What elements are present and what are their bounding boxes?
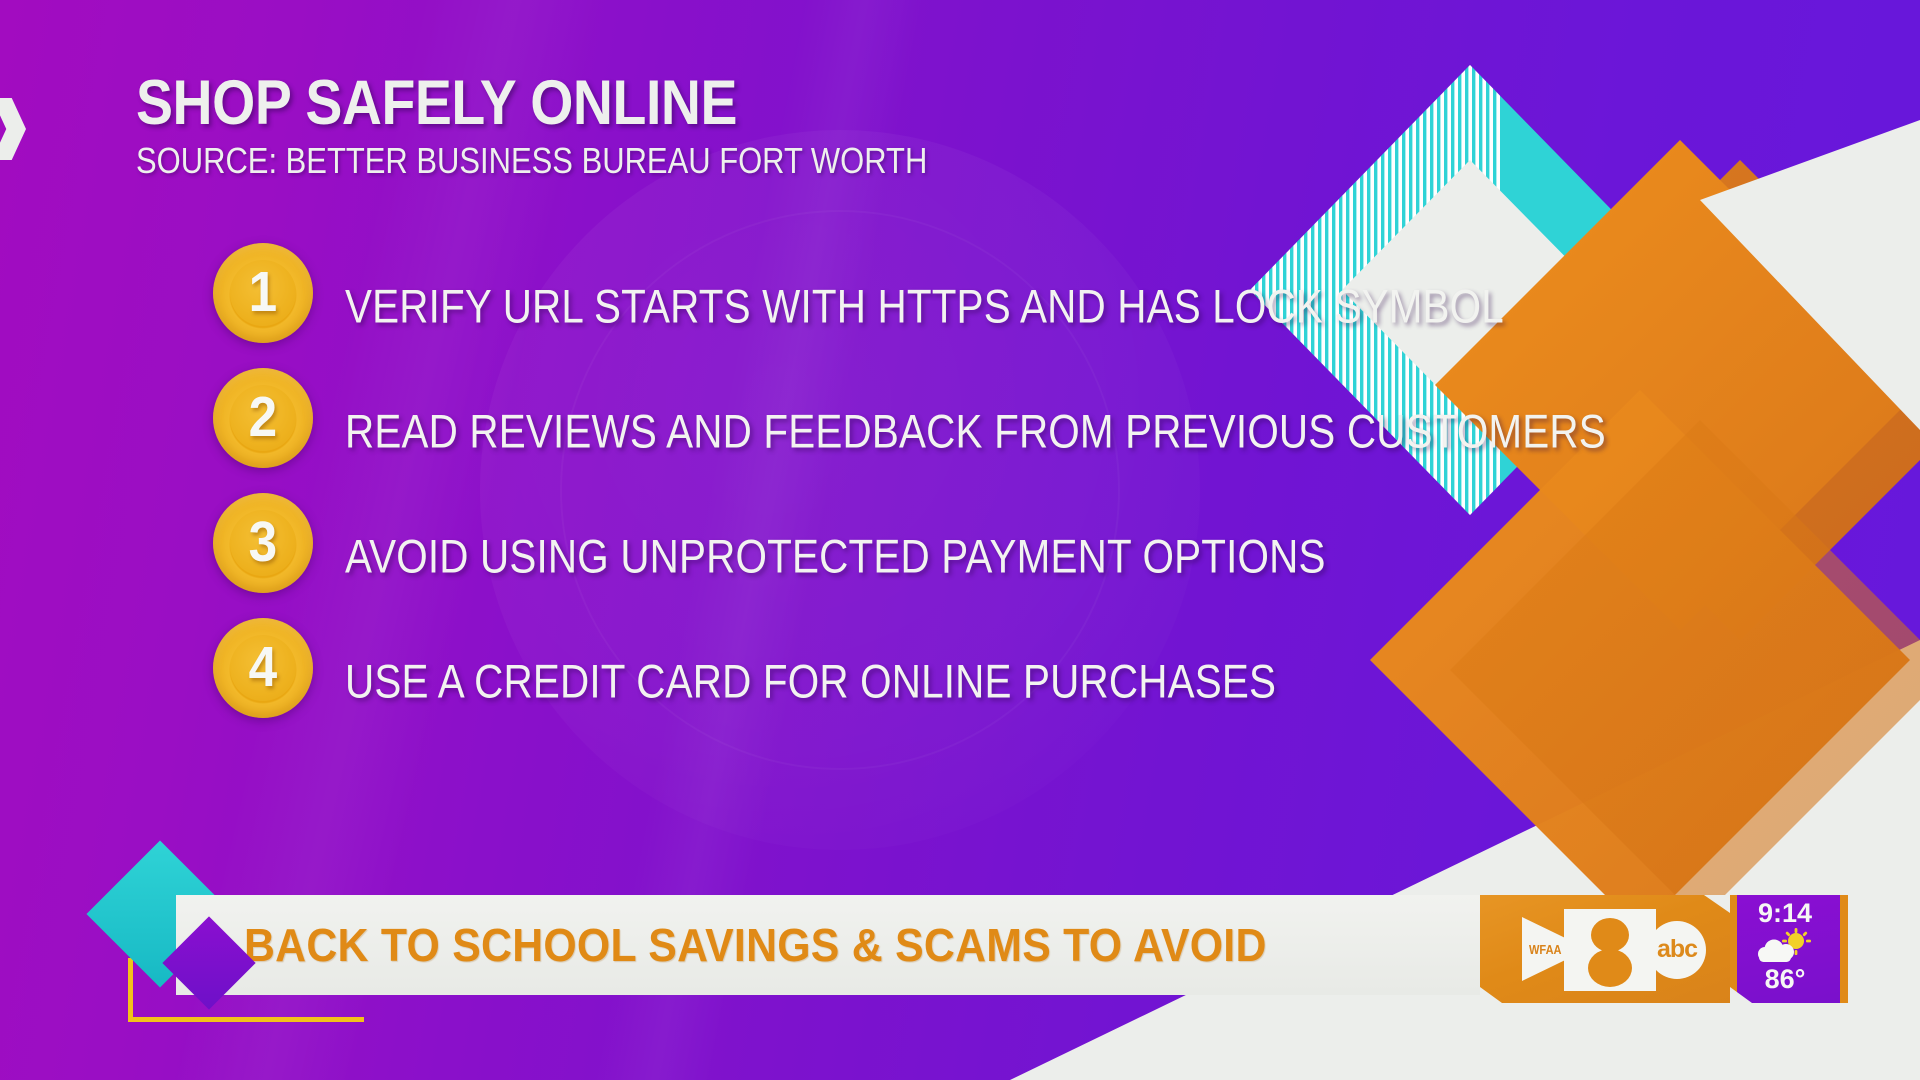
page-title: SHOP SAFELY ONLINE — [136, 72, 946, 135]
logo-callsign: WFAA — [1529, 942, 1562, 957]
network-badge: abc — [1648, 921, 1706, 979]
number-badge-3: 3 — [213, 493, 313, 593]
tip-text: AVOID USING UNPROTECTED PAYMENT OPTIONS — [345, 528, 1326, 583]
tip-text: VERIFY URL STARTS WITH HTTPS AND HAS LOC… — [345, 278, 1504, 333]
lower-third-banner: BACK TO SCHOOL SAVINGS & SCAMS TO AVOID — [176, 895, 1480, 995]
number-badge-2: 2 — [213, 368, 313, 468]
headline-group: SHOP SAFELY ONLINE SOURCE: BETTER BUSINE… — [136, 72, 1056, 179]
tip-text: READ REVIEWS AND FEEDBACK FROM PREVIOUS … — [345, 403, 1606, 458]
clock-label: 9:14 — [1758, 899, 1812, 927]
broadcast-graphic-stage: SHOP SAFELY ONLINE SOURCE: BETTER BUSINE… — [0, 0, 1920, 1080]
lower-third-headline: BACK TO SCHOOL SAVINGS & SCAMS TO AVOID — [244, 918, 1267, 972]
temperature-label: 86° — [1765, 965, 1806, 993]
weather-bug-left-edge — [1730, 895, 1737, 1003]
tip-text: USE A CREDIT CARD FOR ONLINE PURCHASES — [345, 653, 1276, 708]
sun-behind-cloud-icon — [1756, 928, 1814, 964]
badge-number-label: 3 — [249, 514, 278, 571]
network-label: abc — [1657, 935, 1697, 964]
badge-number-label: 1 — [249, 264, 278, 321]
weather-bug-right-edge — [1840, 895, 1848, 1003]
badge-number-label: 2 — [249, 389, 278, 446]
number-badge-4: 4 — [213, 618, 313, 718]
station-logo: WFAA abc — [1480, 895, 1730, 1003]
source-attribution: SOURCE: BETTER BUSINESS BUREAU FORT WORT… — [136, 143, 927, 179]
badge-number-label: 4 — [249, 639, 278, 696]
weather-bug: 9:14 86° — [1730, 895, 1840, 1003]
number-badge-1: 1 — [213, 243, 313, 343]
